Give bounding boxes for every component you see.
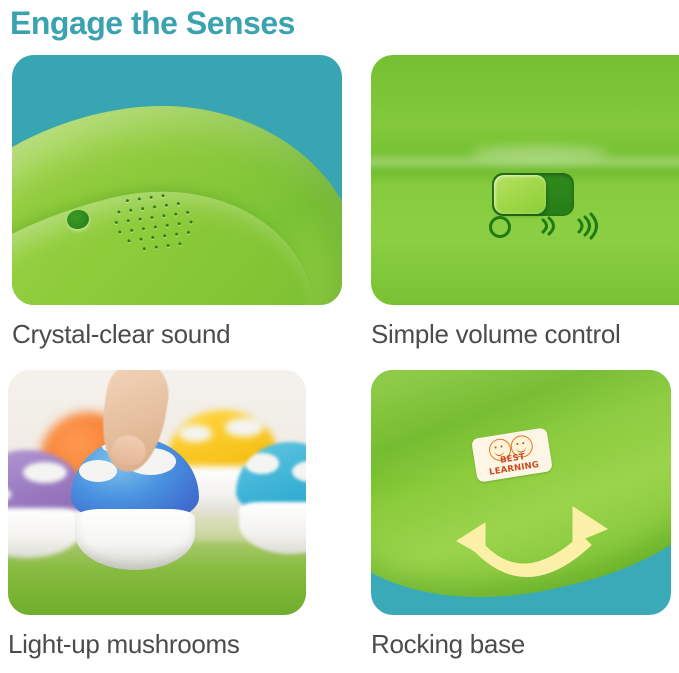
rocking-double-arrow-icon bbox=[451, 495, 616, 580]
mushroom-spot bbox=[79, 460, 117, 482]
mushroom-spot bbox=[179, 425, 212, 442]
speaker-grill-dot bbox=[166, 244, 169, 247]
speaker-grill-dot bbox=[186, 211, 189, 214]
mute-icon bbox=[489, 216, 511, 238]
speaker-grill-dot bbox=[175, 232, 178, 235]
fingernail bbox=[110, 433, 148, 468]
mushroom-spot bbox=[292, 461, 306, 483]
panel-image-crystal-clear-sound bbox=[12, 55, 342, 305]
feature-caption-light-up-mushrooms: Light-up mushrooms bbox=[8, 627, 306, 661]
feature-caption-rocking-base: Rocking base bbox=[371, 627, 671, 661]
speaker-grill-dot bbox=[139, 238, 142, 241]
speaker-grill-dot bbox=[143, 247, 146, 250]
speaker-grill-dot bbox=[142, 227, 145, 230]
speaker-grill-dot bbox=[150, 216, 153, 219]
surface-highlight-oval bbox=[470, 145, 609, 161]
speaker-grill-dot bbox=[118, 230, 121, 233]
feature-caption-simple-volume-control: Simple volume control bbox=[371, 317, 679, 351]
speaker-grill-dot bbox=[155, 245, 158, 248]
speaker-grill-dot bbox=[187, 231, 190, 234]
speaker-grill-dot bbox=[154, 225, 157, 228]
speaker-grill-dot bbox=[130, 229, 133, 232]
low-volume-icon bbox=[536, 213, 562, 239]
speaker-grill-dot bbox=[115, 221, 118, 224]
high-volume-icon bbox=[574, 211, 604, 241]
speaker-grill-dot bbox=[138, 197, 141, 200]
speaker-grill-dot bbox=[161, 194, 164, 197]
speaker-grill-dot bbox=[177, 222, 180, 225]
speaker-grill-dot bbox=[150, 196, 153, 199]
speaker-grill-dot bbox=[165, 204, 168, 207]
feature-card-light-up-mushrooms: Light-up mushrooms bbox=[8, 370, 306, 615]
volume-slider-knob[interactable] bbox=[494, 175, 546, 214]
speaker-grill-dot bbox=[126, 199, 129, 202]
speaker-grill-dot bbox=[117, 210, 120, 213]
speaker-grill-dot bbox=[141, 207, 144, 210]
feature-card-simple-volume-control: Simple volume control bbox=[371, 55, 679, 305]
speaker-grill-dot bbox=[178, 242, 181, 245]
speaker-grill-dot bbox=[166, 224, 169, 227]
panel-image-simple-volume-control bbox=[371, 55, 679, 305]
speaker-grill-dot bbox=[174, 212, 177, 215]
mushroom-spot bbox=[8, 486, 11, 503]
speaker-grill-dot bbox=[177, 202, 180, 205]
feature-card-crystal-clear-sound: Crystal-clear sound bbox=[12, 55, 342, 305]
feature-card-rocking-base: BEST LEARNING Rocking base bbox=[371, 370, 671, 615]
speaker-grill-dot bbox=[127, 239, 130, 242]
speaker-grill-dots-icon bbox=[108, 189, 211, 267]
feature-caption-crystal-clear-sound: Crystal-clear sound bbox=[12, 317, 342, 351]
mushroom-spot bbox=[23, 462, 67, 483]
speaker-grill-dot bbox=[151, 236, 154, 239]
page-title: Engage the Senses bbox=[10, 2, 295, 44]
panel-image-light-up-mushrooms bbox=[8, 370, 306, 615]
feature-grid: Crystal-clear sound S bbox=[0, 55, 679, 673]
speaker-grill-dot bbox=[138, 217, 141, 220]
speaker-grill-dot bbox=[127, 219, 130, 222]
speaker-grill-dot bbox=[163, 234, 166, 237]
mushroom-spot bbox=[245, 453, 280, 473]
panel-image-rocking-base: BEST LEARNING bbox=[371, 370, 671, 615]
speaker-grill-dot bbox=[129, 209, 132, 212]
speaker-grill-dot bbox=[189, 220, 192, 223]
teal-mushroom bbox=[236, 442, 306, 554]
mushroom-spot bbox=[225, 418, 262, 437]
speaker-grill-dot bbox=[153, 205, 156, 208]
speaker-grill-dot bbox=[162, 214, 165, 217]
volume-level-icons bbox=[489, 210, 609, 244]
